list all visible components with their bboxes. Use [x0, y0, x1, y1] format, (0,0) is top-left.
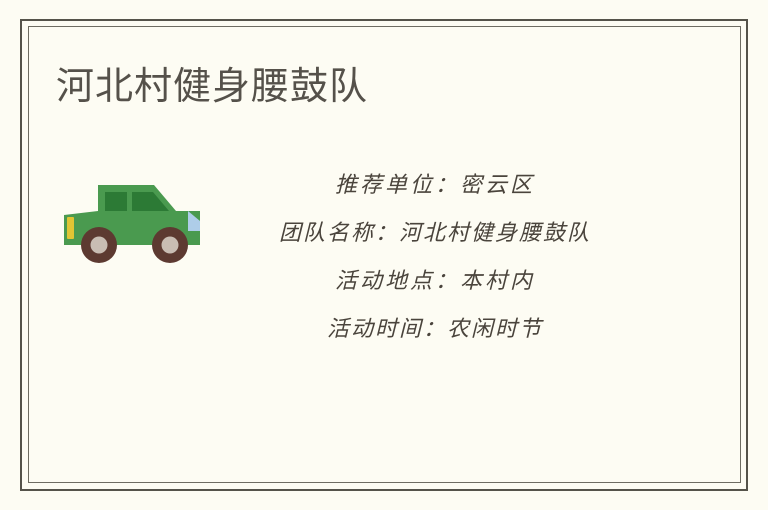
truck-rear-hub	[91, 237, 108, 254]
info-line-recommending-unit: 推荐单位：密云区	[225, 162, 645, 210]
info-line-activity-location: 活动地点：本村内	[225, 258, 645, 306]
truck-front-hub	[162, 237, 179, 254]
info-line-team-name: 团队名称：河北村健身腰鼓队	[225, 210, 645, 258]
truck-taillight	[67, 217, 74, 239]
page-title: 河北村健身腰鼓队	[56, 62, 368, 110]
truck-illustration	[58, 163, 218, 278]
poster-card: 河北村健身腰鼓队 推荐单位：密云区 团队名称：河北村健身腰鼓队	[0, 0, 768, 510]
truck-rear-window	[105, 192, 127, 211]
info-block: 推荐单位：密云区 团队名称：河北村健身腰鼓队 活动地点：本村内 活动时间：农闲时…	[225, 162, 645, 354]
info-line-activity-time: 活动时间：农闲时节	[225, 306, 645, 354]
